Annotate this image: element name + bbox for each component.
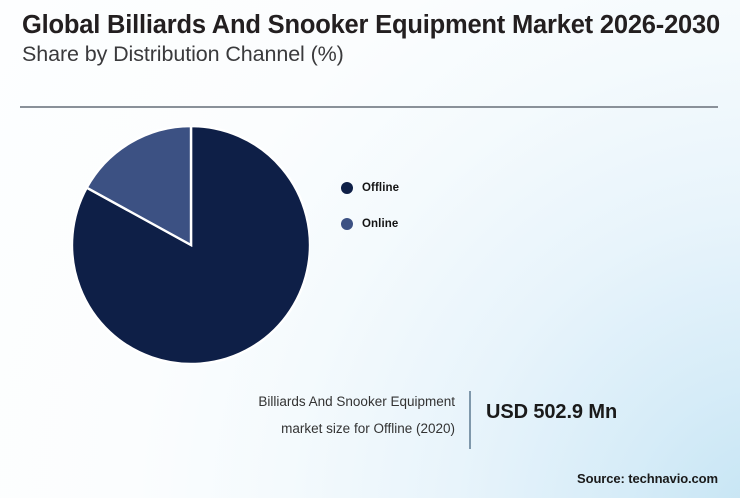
page-subtitle: Share by Distribution Channel (%)	[22, 42, 722, 68]
circle-marker-icon	[341, 218, 353, 230]
chart-legend: Offline Online	[341, 170, 511, 242]
legend-item-online[interactable]: Online	[341, 206, 511, 242]
legend-item-offline[interactable]: Offline	[341, 170, 511, 206]
callout-block: Billiards And Snooker Equipment market s…	[150, 388, 710, 452]
legend-label-offline: Offline	[362, 182, 399, 194]
callout-divider	[469, 391, 471, 449]
page-title: Global Billiards And Snooker Equipment M…	[22, 10, 722, 41]
callout-description-line1: Billiards And Snooker Equipment	[150, 388, 455, 415]
pie-chart	[72, 126, 310, 364]
callout-description: Billiards And Snooker Equipment market s…	[150, 388, 455, 442]
pie-chart-svg	[72, 126, 310, 364]
chart-header: Global Billiards And Snooker Equipment M…	[22, 10, 722, 68]
legend-label-online: Online	[362, 218, 398, 230]
callout-description-line2: market size for Offline (2020)	[150, 415, 455, 442]
circle-marker-icon	[341, 182, 353, 194]
header-divider	[20, 106, 718, 108]
infographic-canvas: Global Billiards And Snooker Equipment M…	[0, 0, 740, 498]
callout-value: USD 502.9 Mn	[486, 401, 617, 424]
source-label: Source: technavio.com	[577, 471, 718, 486]
